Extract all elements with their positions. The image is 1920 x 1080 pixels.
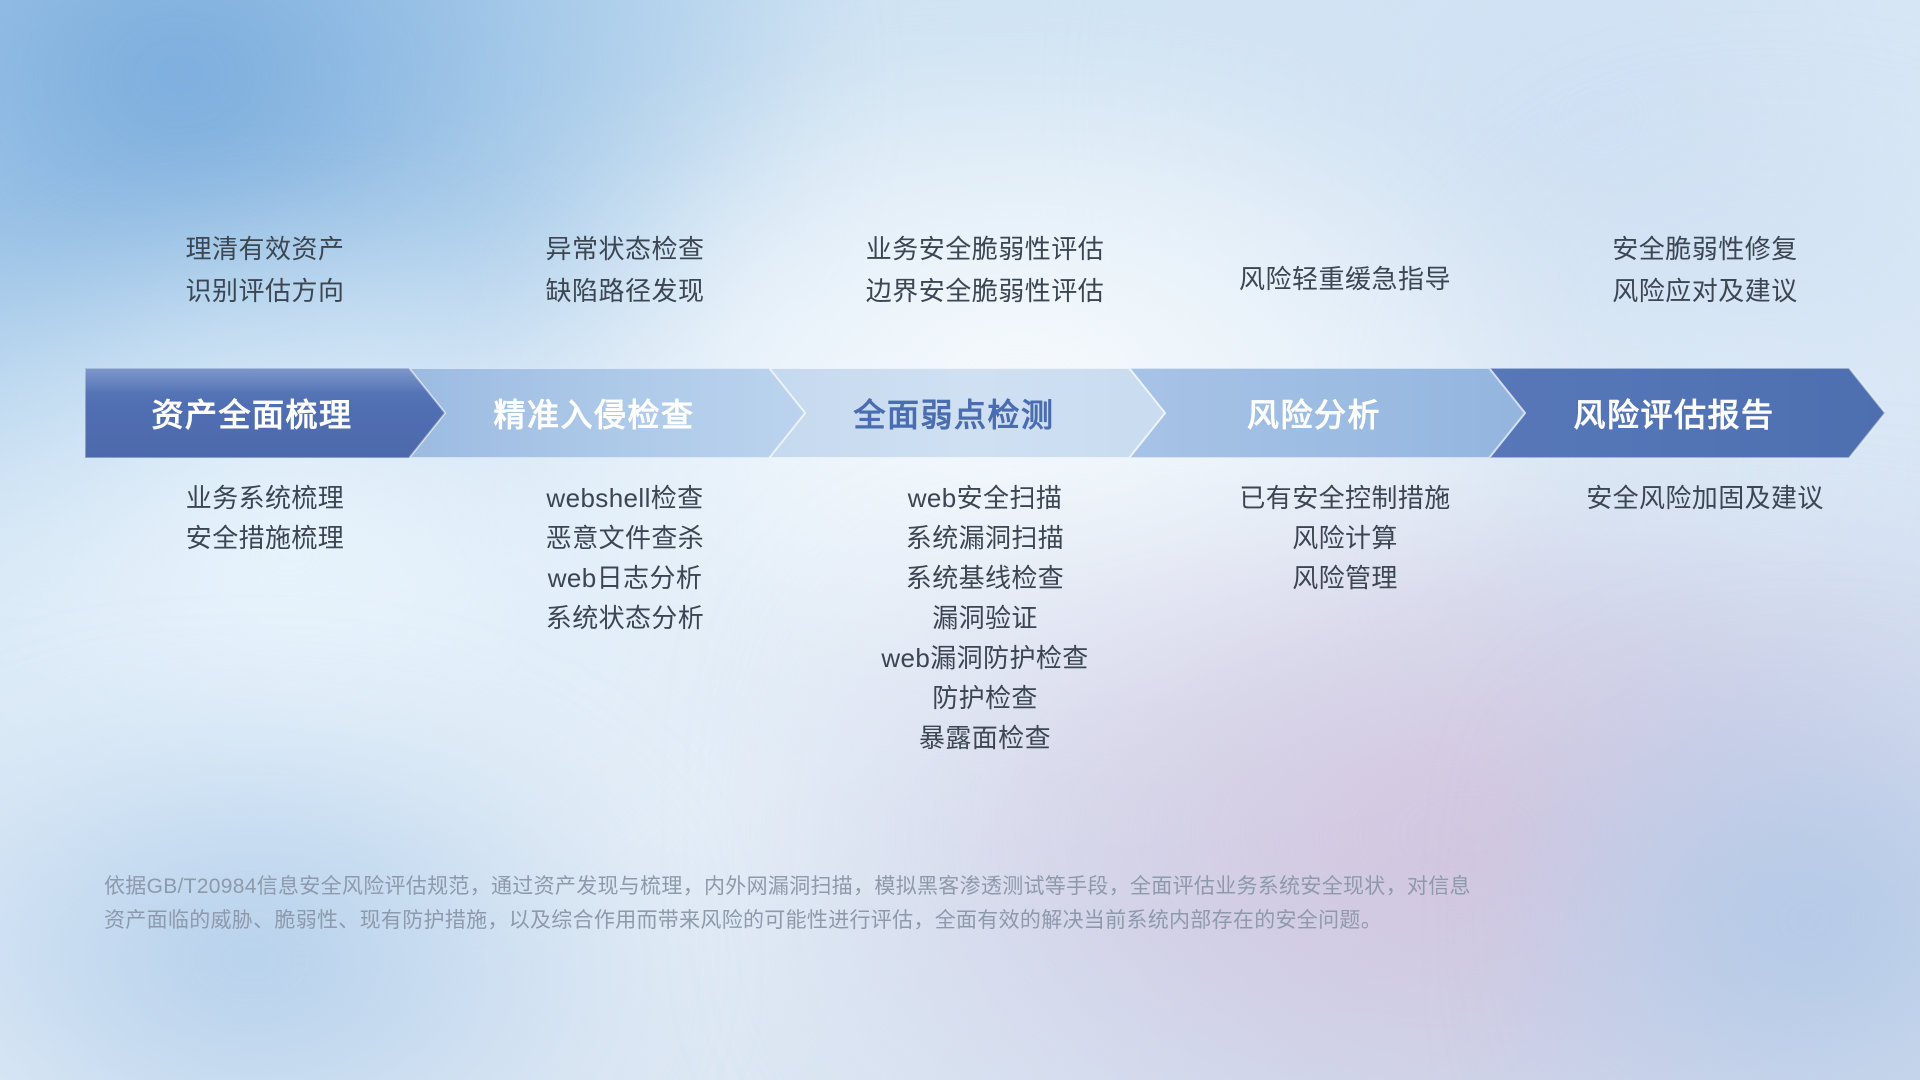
outcome-text: 安全脆弱性修复 — [1525, 228, 1885, 270]
outcome-text: 识别评估方向 — [85, 270, 445, 312]
outcomes-weakness-detection: 业务安全脆弱性评估 边界安全脆弱性评估 — [805, 228, 1165, 312]
process-chevron-band: 资产全面梳理 精准入侵检查 全面弱点检测 风险分析 风险评估报告 — [85, 368, 1885, 458]
outcomes-asset-inventory: 理清有效资产 识别评估方向 — [85, 228, 445, 312]
activity-text: 系统漏洞扫描 — [805, 518, 1165, 558]
activity-text: 风险计算 — [1165, 518, 1525, 558]
footer-description: 依据GB/T20984信息安全风险评估规范，通过资产发现与梳理，内外网漏洞扫描，… — [104, 870, 1664, 938]
activity-text: 暴露面检查 — [805, 718, 1165, 758]
activity-text: 已有安全控制措施 — [1165, 478, 1525, 518]
activity-text: 风险管理 — [1165, 558, 1525, 598]
stage-label-intrusion-inspection: 精准入侵检查 — [493, 390, 720, 436]
activity-text: 恶意文件查杀 — [445, 518, 805, 558]
stage-label-risk-analysis: 风险分析 — [1247, 390, 1407, 436]
stage-label-asset-inventory: 资产全面梳理 — [151, 390, 378, 436]
activity-text: 安全风险加固及建议 — [1525, 478, 1885, 518]
outcome-text: 缺陷路径发现 — [445, 270, 805, 312]
outcomes-risk-assessment-report: 安全脆弱性修复 风险应对及建议 — [1525, 228, 1885, 312]
activities-weakness-detection: web安全扫描 系统漏洞扫描 系统基线检查 漏洞验证 web漏洞防护检查 防护检… — [805, 478, 1165, 758]
chevron-label-1-container[interactable]: 资产全面梳理 — [85, 368, 445, 458]
chevron-label-3-container[interactable]: 全面弱点检测 — [769, 368, 1165, 458]
activity-text: 安全措施梳理 — [85, 518, 445, 558]
outcome-text: 风险轻重缓急指导 — [1165, 258, 1525, 300]
activity-text: 防护检查 — [805, 678, 1165, 718]
chevron-label-5-container[interactable]: 风险评估报告 — [1489, 368, 1885, 458]
outcome-text: 异常状态检查 — [445, 228, 805, 270]
activity-text: 系统基线检查 — [805, 558, 1165, 598]
activity-text: web漏洞防护检查 — [805, 638, 1165, 678]
stage-label-weakness-detection: 全面弱点检测 — [853, 390, 1080, 436]
activities-asset-inventory: 业务系统梳理 安全措施梳理 — [85, 478, 445, 558]
activity-text: 业务系统梳理 — [85, 478, 445, 518]
activities-risk-analysis: 已有安全控制措施 风险计算 风险管理 — [1165, 478, 1525, 598]
activity-text: 漏洞验证 — [805, 598, 1165, 638]
stage-label-risk-assessment-report: 风险评估报告 — [1573, 390, 1800, 436]
activity-text: webshell检查 — [445, 478, 805, 518]
outcome-text: 风险应对及建议 — [1525, 270, 1885, 312]
activities-risk-assessment-report: 安全风险加固及建议 — [1525, 478, 1885, 518]
outcomes-intrusion-inspection: 异常状态检查 缺陷路径发现 — [445, 228, 805, 312]
activity-text: web安全扫描 — [805, 478, 1165, 518]
outcome-text: 业务安全脆弱性评估 — [805, 228, 1165, 270]
outcome-text: 理清有效资产 — [85, 228, 445, 270]
outcome-text: 边界安全脆弱性评估 — [805, 270, 1165, 312]
chevron-label-2-container[interactable]: 精准入侵检查 — [409, 368, 805, 458]
footer-line-1: 依据GB/T20984信息安全风险评估规范，通过资产发现与梳理，内外网漏洞扫描，… — [104, 870, 1664, 904]
risk-assessment-process-diagram: 理清有效资产 识别评估方向 业务系统梳理 安全措施梳理 异常状态检查 缺陷路径发… — [0, 0, 1920, 1080]
chevron-label-4-container[interactable]: 风险分析 — [1129, 368, 1525, 458]
activity-text: web日志分析 — [445, 558, 805, 598]
outcomes-risk-analysis: 风险轻重缓急指导 — [1165, 258, 1525, 300]
footer-line-2: 资产面临的威胁、脆弱性、现有防护措施，以及综合作用而带来风险的可能性进行评估，全… — [104, 904, 1664, 938]
activities-intrusion-inspection: webshell检查 恶意文件查杀 web日志分析 系统状态分析 — [445, 478, 805, 638]
activity-text: 系统状态分析 — [445, 598, 805, 638]
